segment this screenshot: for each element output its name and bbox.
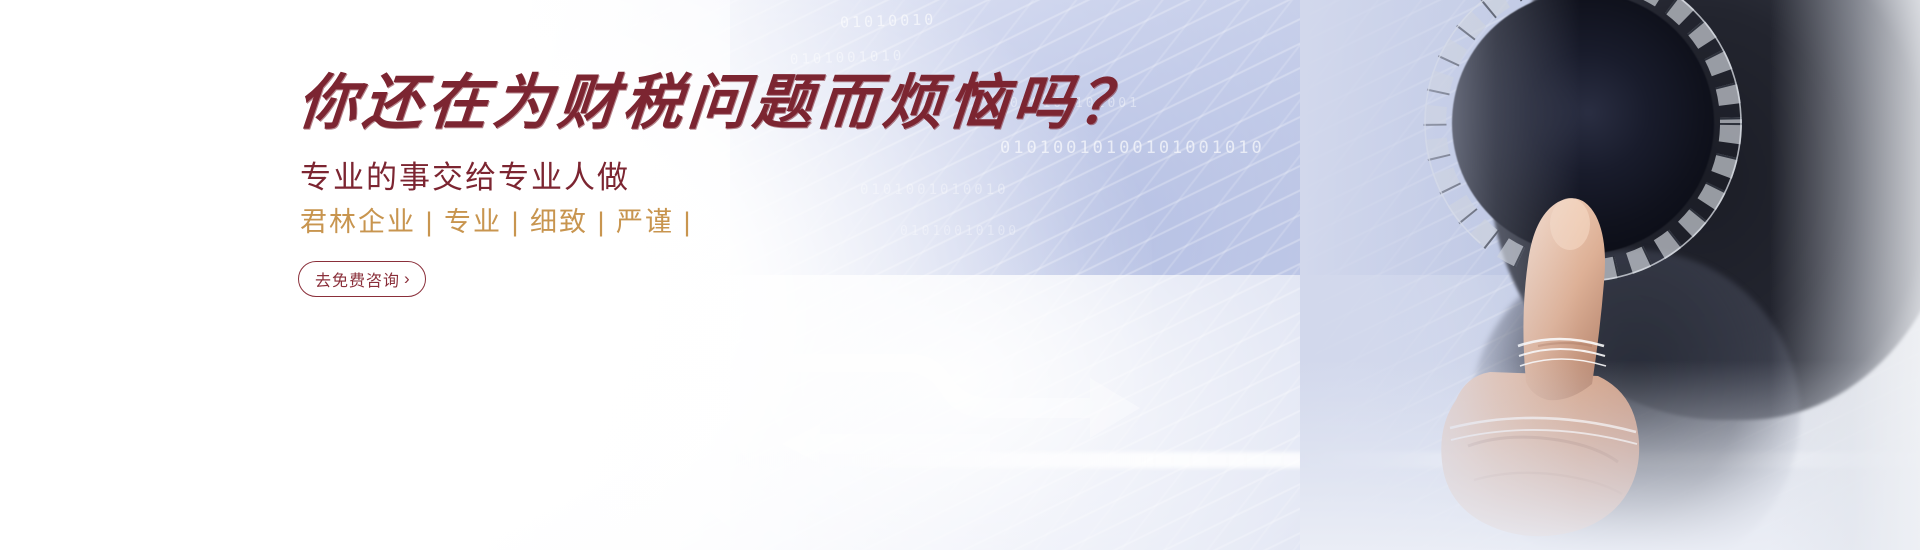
- hero-photo: [1300, 0, 1920, 550]
- hero-tagline: 君林企业 | 专业 | 细致 | 严谨 |: [300, 209, 693, 236]
- hero-text-block: 你还在为财税问题而烦恼吗？ 专业的事交给专业人做 君林企业 | 专业 | 细致 …: [298, 0, 1058, 550]
- photo-fade-right: [1770, 0, 1920, 550]
- hero-headline: 你还在为财税问题而烦恼吗？: [295, 73, 1145, 133]
- chevron-right-icon: ›: [404, 270, 411, 287]
- hero-banner: 01010010 0101001010 010100101001 0101001…: [0, 0, 1920, 550]
- free-consultation-button[interactable]: 去免费咨询 ›: [298, 261, 426, 297]
- hero-subtitle: 专业的事交给专业人做: [300, 162, 630, 193]
- cta-label: 去免费咨询: [315, 267, 400, 291]
